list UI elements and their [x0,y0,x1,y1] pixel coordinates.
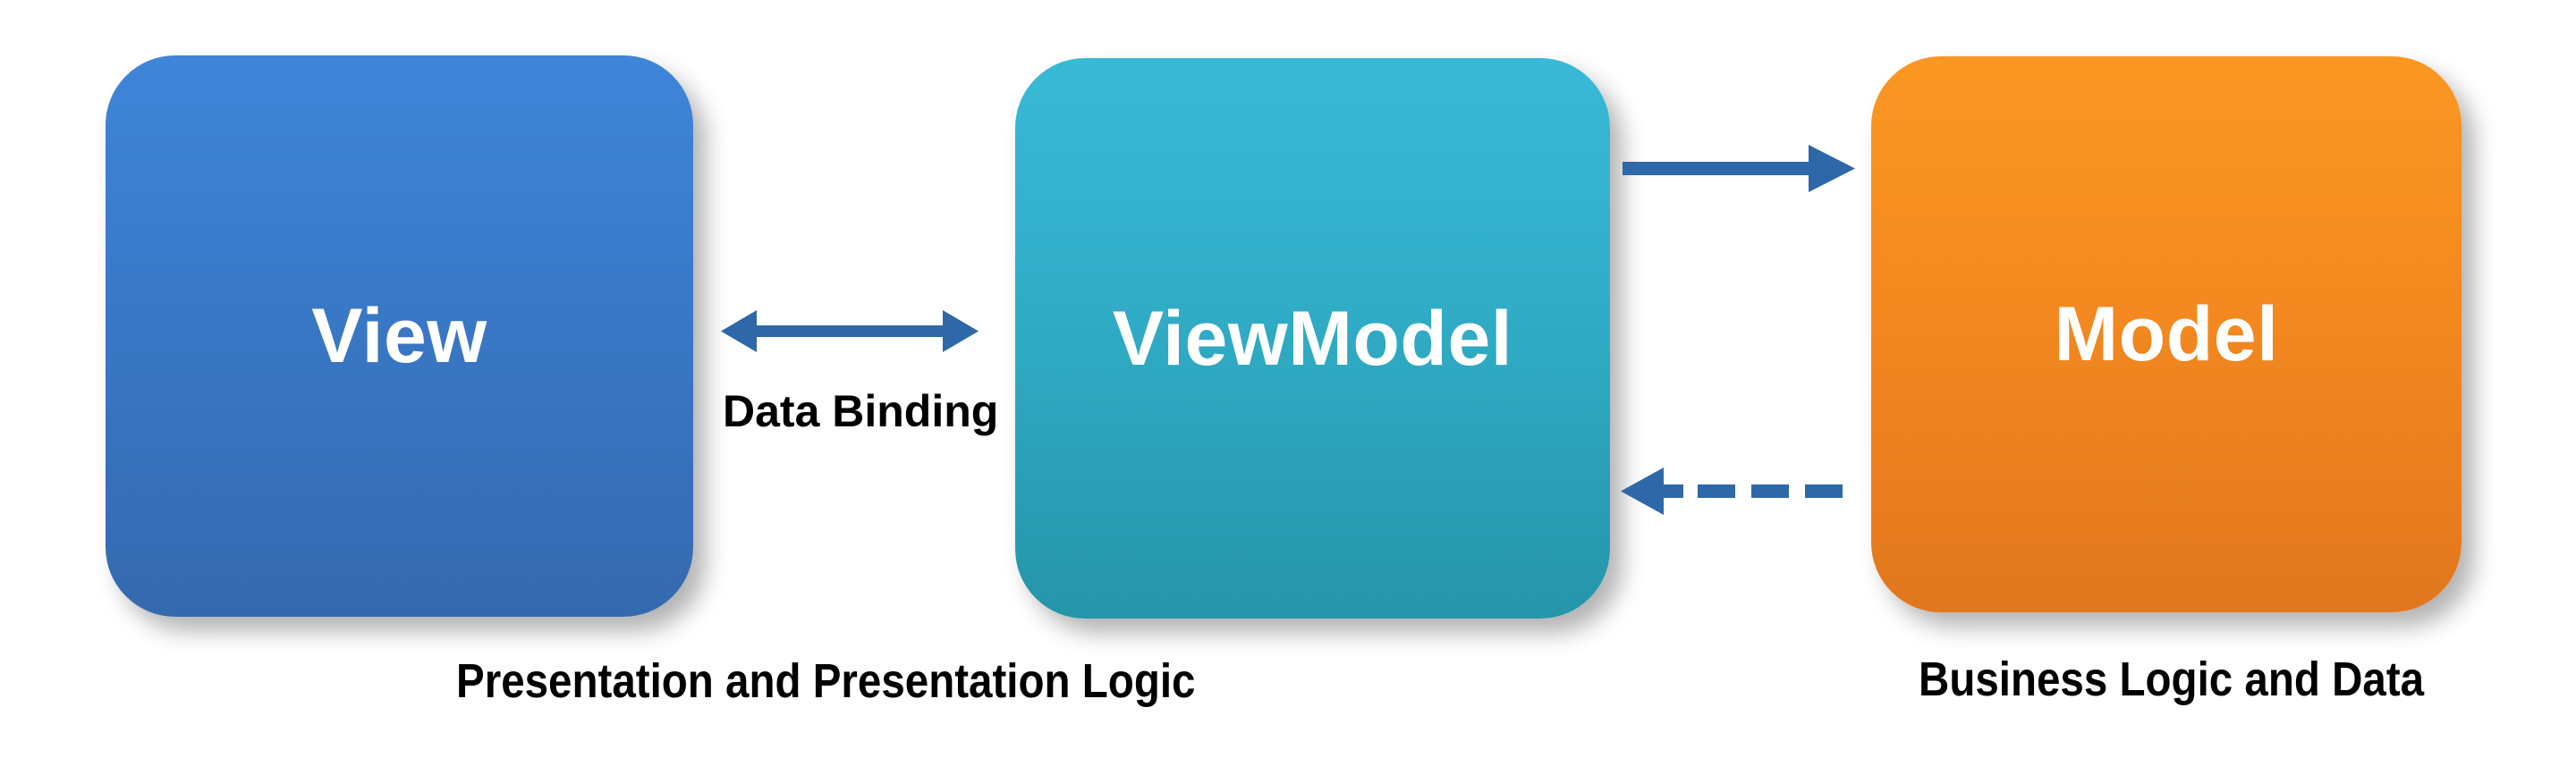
node-view[interactable]: View [106,55,693,617]
node-model[interactable]: Model [1871,56,2462,612]
caption-model: Business Logic and Data [1919,655,2424,703]
data-binding-label: Data Binding [723,389,982,434]
node-viewmodel-label: ViewModel [1113,300,1513,377]
node-model-label: Model [2055,296,2279,373]
model-to-viewmodel-dashed-arrow-icon [1619,456,1860,527]
viewmodel-to-model-arrow-icon [1619,134,1860,206]
caption-view: Presentation and Presentation Logic [456,657,1195,705]
node-view-label: View [311,298,487,375]
node-viewmodel[interactable]: ViewModel [1015,58,1610,619]
data-binding-arrow-icon [716,295,984,375]
mvvm-diagram-canvas: View ViewModel Model Data Binding Presen… [0,0,2576,775]
